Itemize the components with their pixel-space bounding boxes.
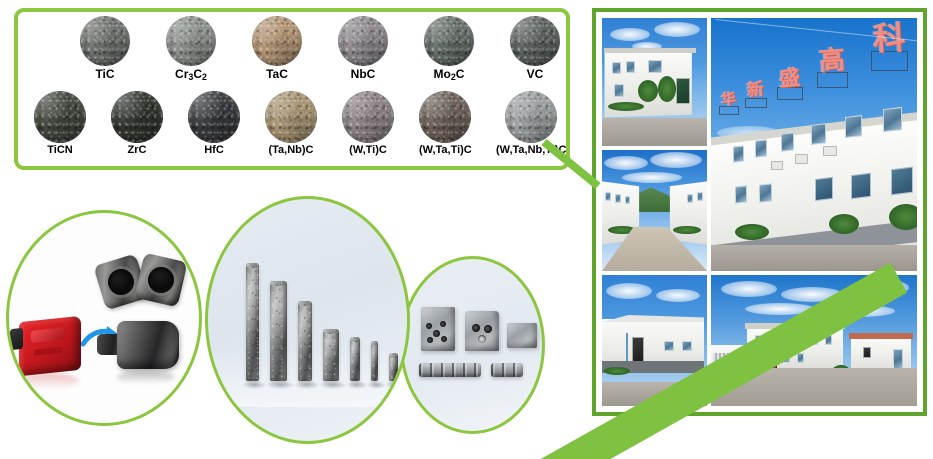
sign-character: 新: [746, 81, 765, 100]
powder-sample-ta-nb-c[interactable]: (Ta,Nb)C: [265, 91, 317, 156]
rod-shadow: [242, 381, 267, 389]
window: [891, 167, 913, 196]
carbide-rod-1[interactable]: [246, 263, 259, 381]
connector-upper-arrow: [540, 138, 610, 194]
window: [759, 183, 772, 203]
carbide-rod-4[interactable]: [323, 329, 339, 381]
wedge-hole: [478, 335, 486, 343]
pavement: [602, 118, 707, 146]
tree: [658, 76, 676, 102]
ac-unit: [823, 146, 837, 156]
powder-sample-hfc[interactable]: HfC: [188, 91, 240, 156]
powder-texture: [166, 16, 216, 66]
rod-shadow: [367, 381, 386, 389]
powder-disc: [424, 16, 474, 66]
rod-shadow: [385, 381, 406, 389]
powder-sample-w-ti-c[interactable]: (W,Ti)C: [342, 91, 394, 156]
powder-disc: [166, 16, 216, 66]
tree: [889, 204, 917, 230]
window: [687, 194, 693, 203]
window: [697, 192, 703, 201]
rod-shadow: [294, 381, 320, 389]
powder-label: ZrC: [128, 145, 147, 156]
window: [811, 123, 826, 145]
ac-unit: [795, 154, 808, 164]
powder-sample-tic[interactable]: TiC: [80, 16, 130, 80]
ac-unit: [771, 161, 783, 170]
powder-texture: [419, 91, 471, 143]
block-hole: [440, 321, 446, 327]
bit-reflection: [117, 371, 175, 384]
powder-disc: [34, 91, 86, 143]
powder-sample-w-ta-ti-c[interactable]: (W,Ta,Ti)C: [419, 91, 472, 156]
powder-disc: [338, 16, 388, 66]
sign-character: 盛: [778, 67, 801, 90]
short-grooved-roller: [491, 363, 523, 377]
sign-character: 高: [818, 47, 846, 75]
window: [781, 132, 794, 152]
tree: [638, 80, 658, 102]
shrubs: [608, 102, 644, 111]
cloud: [650, 152, 702, 168]
powder-disc: [342, 91, 394, 143]
window: [883, 107, 902, 132]
photo-main-plant-sign: 华新盛高科: [711, 18, 917, 271]
powder-texture: [265, 91, 317, 143]
cloud: [604, 156, 648, 170]
powder-label: TaC: [266, 68, 288, 80]
window: [626, 61, 635, 73]
machine-reflection: [21, 373, 79, 389]
powder-label: (W,Ta,Ti)C: [419, 145, 472, 156]
window: [735, 185, 747, 203]
powder-texture: [80, 16, 130, 66]
window: [615, 194, 621, 203]
wedge-hole: [472, 324, 480, 332]
powder-texture: [505, 91, 557, 143]
red-drilling-machine: [19, 316, 81, 377]
powder-label: HfC: [204, 145, 224, 156]
carbide-rod-3[interactable]: [298, 301, 312, 381]
carbide-rod-5[interactable]: [350, 337, 360, 381]
powder-disc: [252, 16, 302, 66]
window: [815, 177, 833, 201]
drill-bit-body: [117, 321, 179, 369]
photo-office-building: [602, 18, 707, 146]
roadside-grass: [673, 226, 701, 234]
powder-label: TiC: [95, 68, 114, 80]
connector-lower-arrow: [522, 252, 933, 459]
wedge-hole: [484, 325, 492, 333]
block-hole: [427, 337, 433, 343]
window: [851, 173, 871, 199]
powder-label: TiCN: [47, 145, 72, 156]
powder-sample-ticn[interactable]: TiCN: [34, 91, 86, 156]
powder-disc: [111, 91, 163, 143]
powder-sample-mo2c[interactable]: Mo2C: [424, 16, 474, 80]
circle-carbide-rods: [205, 196, 410, 444]
sign-character: 华: [720, 91, 737, 107]
entrance-door: [676, 78, 690, 104]
powder-sample-zrc[interactable]: ZrC: [111, 91, 163, 156]
stepped-block: [421, 307, 455, 351]
tree: [829, 214, 859, 234]
powder-row-1: TiCCr3C2TaCNbCMo2CVC: [18, 16, 566, 91]
powder-sample-vc[interactable]: VC: [510, 16, 560, 80]
office-roofline: [604, 48, 696, 53]
powder-disc: [505, 91, 557, 143]
rod-shadow: [266, 381, 295, 389]
carbide-rod-2[interactable]: [270, 281, 287, 381]
poster-canvas: TiCCr3C2TaCNbCMo2CVC TiCNZrCHfC(Ta,Nb)C(…: [0, 0, 933, 459]
block-hole: [433, 330, 440, 337]
window: [612, 62, 621, 74]
powder-texture: [252, 16, 302, 66]
powder-row-2: TiCNZrCHfC(Ta,Nb)C(W,Ti)C(W,Ta,Ti)C(W,Ta…: [18, 91, 566, 166]
powder-disc: [188, 91, 240, 143]
powder-disc: [265, 91, 317, 143]
powder-texture: [342, 91, 394, 143]
powder-label: Cr3C2: [175, 68, 207, 80]
window: [845, 115, 862, 138]
powder-texture: [510, 16, 560, 66]
powder-panel: TiCCr3C2TaCNbCMo2CVC TiCNZrCHfC(Ta,Nb)C(…: [14, 8, 570, 170]
powder-label: VC: [527, 68, 544, 80]
window: [648, 60, 662, 73]
circle-drilling-tools: [6, 210, 202, 426]
carbide-ring-right: [134, 253, 187, 308]
cloud: [622, 172, 682, 183]
rod-shadow: [346, 381, 368, 389]
window: [614, 84, 624, 97]
powder-texture: [34, 91, 86, 143]
powder-texture: [338, 16, 388, 66]
powder-texture: [424, 16, 474, 66]
cloud: [654, 22, 700, 37]
window: [755, 139, 767, 157]
block-hole: [426, 323, 432, 329]
ring-bore: [145, 264, 176, 295]
carbide-drill-bit: [95, 317, 187, 373]
shrubs: [735, 224, 769, 240]
powder-sample-nbc[interactable]: NbC: [338, 16, 388, 80]
powder-texture: [188, 91, 240, 143]
powder-disc: [419, 91, 471, 143]
carbide-rod-6[interactable]: [371, 341, 378, 381]
powder-label: (Ta,Nb)C: [268, 145, 313, 156]
powder-sample-tac[interactable]: TaC: [252, 16, 302, 80]
cloud: [610, 28, 650, 41]
carbide-rod-7[interactable]: [389, 353, 398, 381]
window: [625, 196, 630, 204]
long-grooved-roller: [419, 363, 481, 377]
powder-disc: [510, 16, 560, 66]
powder-sample-cr3c2[interactable]: Cr3C2: [166, 16, 216, 80]
block-hole: [441, 336, 447, 342]
carbide-rings: [99, 257, 185, 307]
powder-label: NbC: [351, 68, 376, 80]
rod-shadow: [319, 381, 347, 389]
ring-bore: [105, 266, 137, 298]
right-building-row: [670, 181, 707, 244]
powder-label: Mo2C: [434, 68, 465, 80]
window: [733, 145, 744, 162]
powder-disc: [80, 16, 130, 66]
wedge-block-with-holes: [465, 311, 499, 351]
powder-texture: [111, 91, 163, 143]
powder-label: (W,Ti)C: [349, 145, 387, 156]
